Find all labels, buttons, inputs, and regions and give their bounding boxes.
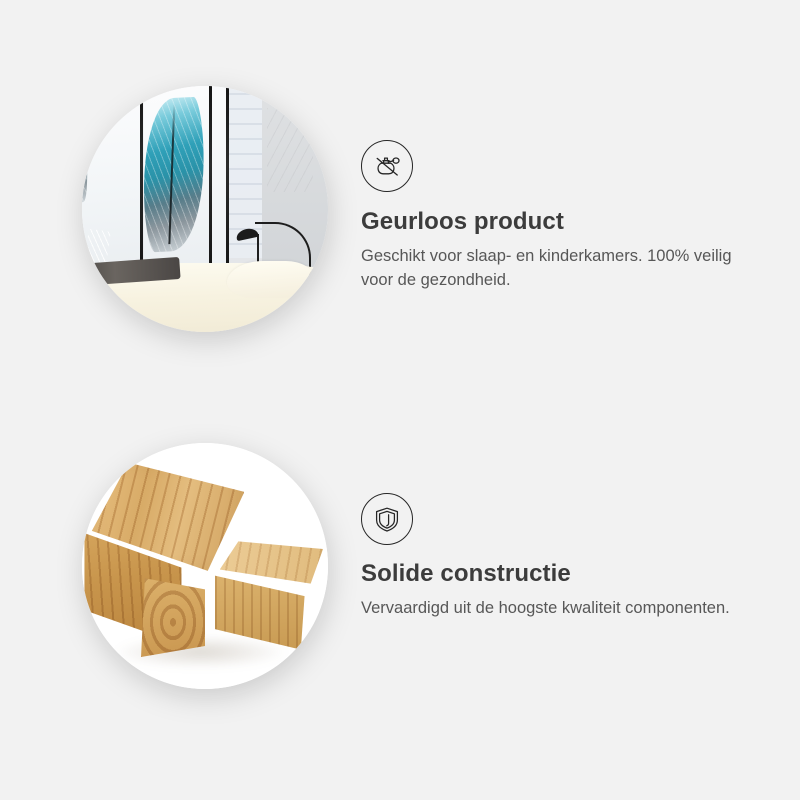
pillow (227, 261, 316, 298)
no-fragrance-icon (361, 140, 413, 192)
feature-title: Geurloos product (361, 208, 564, 237)
bedroom-feather-wall-art-photo (82, 86, 328, 332)
feature-description: Vervaardigd uit de hoogste kwaliteit com… (361, 597, 730, 621)
panel-divider-1 (140, 86, 143, 273)
feature-list-page: Geurloos product Geschikt voor slaap- en… (0, 0, 800, 800)
wood-scene (82, 443, 328, 689)
panel-divider-3 (226, 86, 229, 273)
feature-image-circle-scent (82, 86, 328, 332)
panel-divider-2 (209, 86, 212, 273)
bedroom-scene (82, 86, 328, 332)
feature-image-circle-construction (82, 443, 328, 689)
feature-title: Solide constructie (361, 560, 571, 589)
wood-beam-end-grain (190, 502, 259, 595)
wooden-beams-photo (82, 443, 328, 689)
art-panel-1 (82, 86, 141, 273)
feather-barbs (82, 96, 92, 203)
feature-block-construction: Solide constructie Vervaardigd uit de ho… (0, 405, 800, 765)
shield-icon (361, 493, 413, 545)
feature-block-scent: Geurloos product Geschikt voor slaap- en… (0, 48, 800, 408)
feature-description: Geschikt voor slaap- en kinderkamers. 10… (361, 245, 751, 293)
feather-1 (82, 96, 92, 203)
art-panel-3 (212, 86, 227, 273)
wood-cube-end-grain (141, 578, 205, 657)
